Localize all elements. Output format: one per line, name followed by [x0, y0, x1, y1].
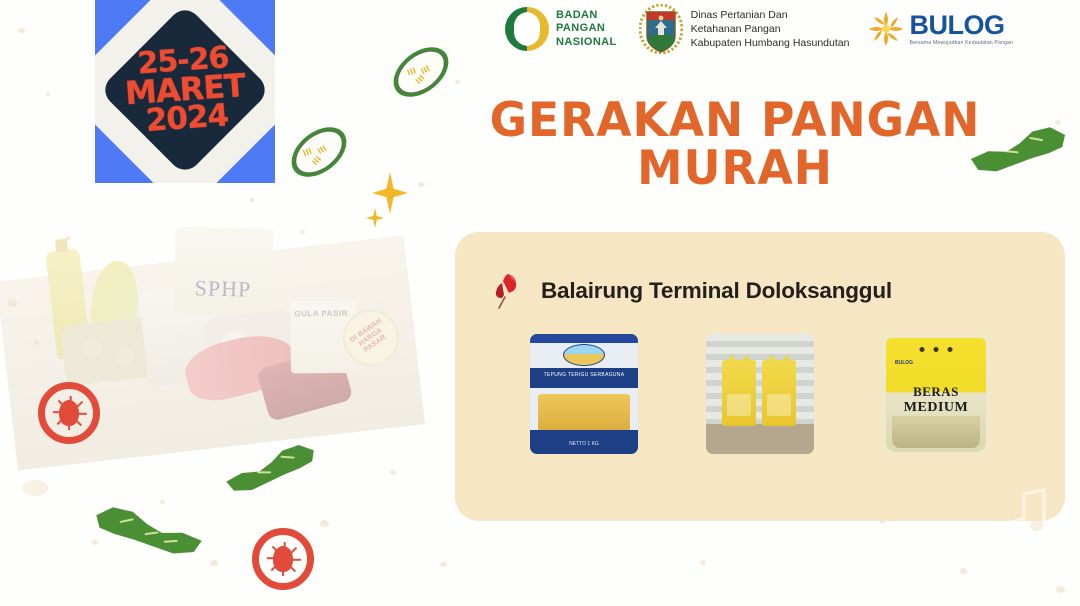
sphp-food-basket-photo: SPHP GULA PASIR DI BAWAH HARGA PASAR	[0, 200, 428, 495]
green-pod-icon	[90, 492, 208, 563]
oil-pouch	[722, 360, 756, 426]
beras-brand-label: BULOG	[895, 360, 913, 366]
dinas-pertanian-logo: Dinas Pertanian Dan Ketahanan Pangan Kab…	[639, 4, 850, 54]
date-badge-text: 25-26 MARET 2024	[97, 41, 273, 138]
product-thumb-beras-medium[interactable]: BULOG BERAS MEDIUM	[882, 334, 990, 454]
dinas-line-1: Dinas Pertanian Dan	[691, 8, 850, 22]
flour-weight-label: NETTO 1 KG	[530, 441, 638, 447]
oil-pouch	[762, 360, 796, 426]
bulog-sunburst-icon	[867, 10, 905, 48]
flour-product-label: TEPUNG TERIGU SERBAGUNA	[530, 372, 638, 378]
poster-headline: GERAKAN PANGAN MURAH	[478, 97, 992, 193]
headline-line-2: MURAH	[478, 145, 992, 193]
beras-label-line-1: BERAS	[886, 384, 986, 400]
bulog-logo: BULOG Bersama Mewujudkan Kedaulatan Pang…	[867, 10, 1013, 48]
bapanas-wordmark: BADAN PANGAN NASIONAL	[556, 9, 617, 49]
bapanas-line-2: PANGAN	[556, 22, 617, 35]
cucumber-slice-icon	[282, 117, 355, 187]
humbang-hasundutan-coat-of-arms-icon	[639, 4, 683, 54]
rice-grain-window	[892, 416, 980, 448]
price-badge-text: DI BAWAH HARGA PASAR	[343, 313, 400, 362]
bapanas-line-1: BADAN	[556, 9, 617, 22]
venue-header: Balairung Terminal Doloksanggul	[489, 272, 892, 310]
bulog-wordmark: BULOG	[909, 12, 1013, 39]
bulog-tagline: Bersama Mewujudkan Kedaulatan Pangan	[909, 40, 1013, 46]
product-thumb-minyak-goreng[interactable]	[706, 334, 814, 454]
organization-logo-row: BADAN PANGAN NASIONAL Dinas Pertanian Da…	[505, 3, 1065, 55]
event-date-badge: 25-26 MARET 2024	[95, 0, 275, 183]
dinas-line-2: Ketahanan Pangan	[691, 22, 850, 36]
pushpin-icon	[489, 272, 523, 310]
bag-vent-holes	[920, 347, 953, 352]
headline-line-1: GERAKAN PANGAN	[490, 93, 981, 148]
dinas-pertanian-text: Dinas Pertanian Dan Ketahanan Pangan Kab…	[691, 8, 850, 51]
bapanas-crescent-icon	[505, 7, 549, 51]
dinas-line-3: Kabupaten Humbang Hasundutan	[691, 36, 850, 50]
poster-canvas: 25-26 MARET 2024 BADAN PANGAN NASIONAL	[0, 0, 1080, 606]
sugar-label: GULA PASIR	[294, 309, 348, 318]
venue-name: Balairung Terminal Doloksanggul	[541, 278, 892, 304]
beras-label-line-2: MEDIUM	[886, 400, 986, 416]
venue-card: Balairung Terminal Doloksanggul TEPUNG T…	[455, 232, 1065, 521]
sphp-rice-bag: SPHP	[173, 227, 273, 316]
canva-watermark-icon	[990, 488, 1052, 548]
badan-pangan-nasional-logo: BADAN PANGAN NASIONAL	[505, 7, 617, 51]
sphp-label: SPHP	[174, 275, 273, 304]
product-thumb-tepung-terigu[interactable]: TEPUNG TERIGU SERBAGUNA NETTO 1 KG	[530, 334, 638, 454]
flour-brand-oval-icon	[563, 344, 605, 366]
tomato-slice-icon	[252, 528, 314, 590]
bapanas-line-3: NASIONAL	[556, 36, 617, 49]
product-thumbnail-row: TEPUNG TERIGU SERBAGUNA NETTO 1 KG BULOG…	[455, 334, 1065, 454]
cucumber-slice-icon	[384, 37, 457, 107]
